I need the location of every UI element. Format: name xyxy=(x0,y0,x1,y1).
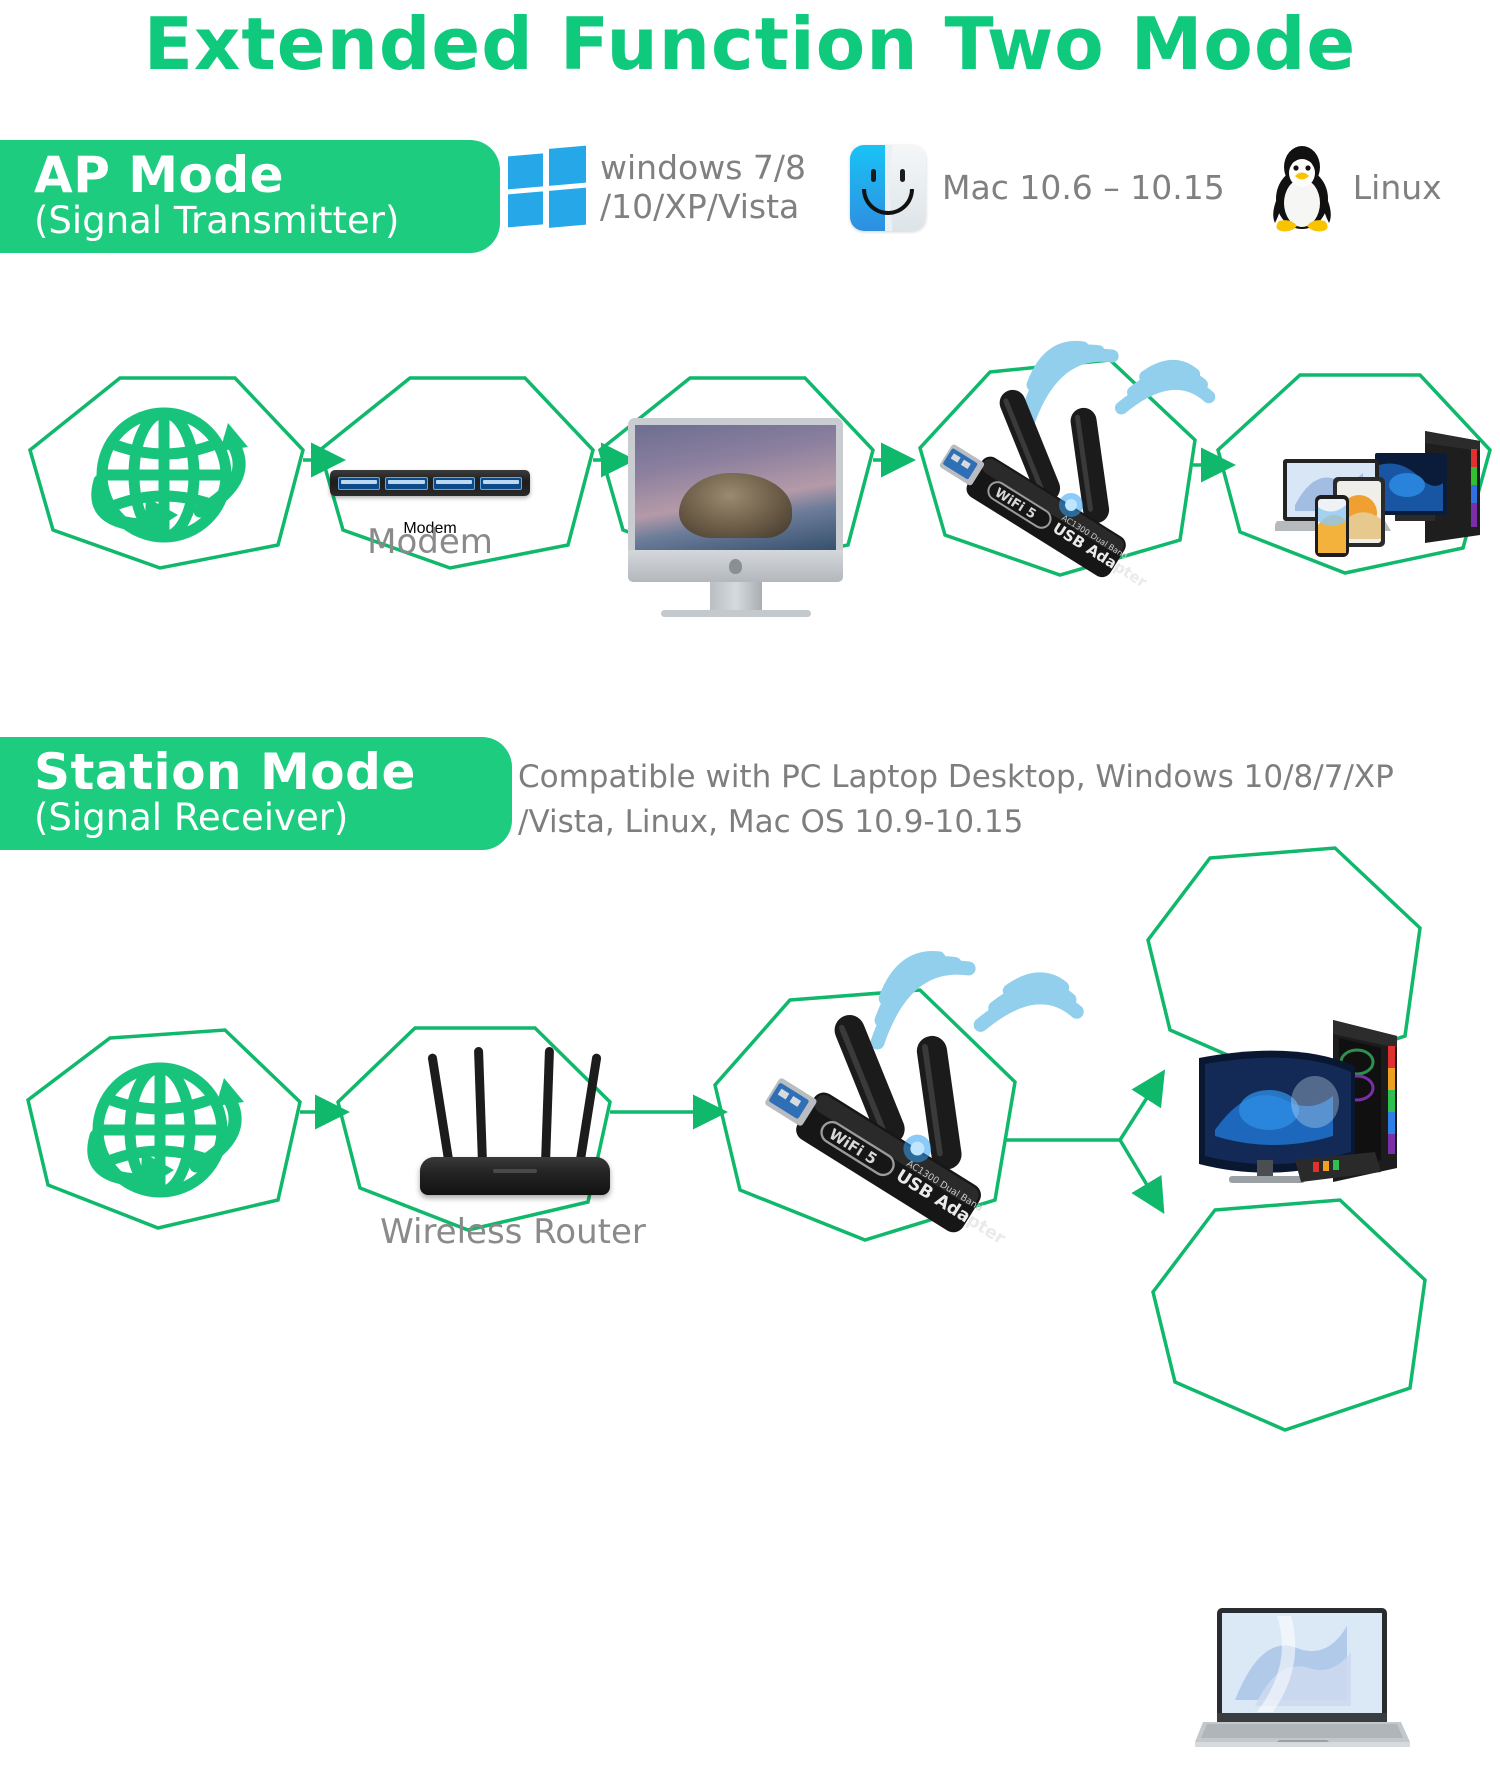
compatibility-line-2: /Vista, Linux, Mac OS 10.9-10.15 xyxy=(518,800,1448,845)
usb-wifi-adapter-icon: WiFi 5 AC1300 Dual Band USB Adapter xyxy=(925,365,1175,605)
os-compatibility-row: windows 7/8 /10/XP/Vista Mac 10.6 – 10.1… xyxy=(508,143,1442,233)
page-title: Extended Function Two Mode xyxy=(0,2,1500,86)
station-mode-badge-subtitle: (Signal Receiver) xyxy=(34,799,486,836)
hex-outline-s5 xyxy=(1153,1200,1425,1430)
os-item-mac: Mac 10.6 – 10.15 xyxy=(850,145,1225,231)
compatibility-text: Compatible with PC Laptop Desktop, Windo… xyxy=(518,755,1448,845)
ap-mode-badge: AP Mode (Signal Transmitter) xyxy=(0,140,500,253)
infographic-page: Extended Function Two Mode AP Mode (Sign… xyxy=(0,0,1500,1474)
multi-device-cluster-icon xyxy=(1275,425,1500,570)
windows-logo-icon xyxy=(508,146,586,231)
imac-desktop-icon xyxy=(628,418,843,598)
os-label-windows: windows 7/8 /10/XP/Vista xyxy=(600,149,806,227)
flow-arrow-s4 xyxy=(1120,1140,1150,1190)
laptop-icon xyxy=(1195,1600,1500,1765)
os-item-windows: windows 7/8 /10/XP/Vista xyxy=(508,149,806,227)
flow-arrow-s3 xyxy=(1120,1093,1150,1140)
node-label-modem: Modem xyxy=(320,522,540,562)
wireless-router-icon xyxy=(412,1055,617,1205)
station-mode-badge: Station Mode (Signal Receiver) xyxy=(0,737,512,850)
globe-internet-icon-2 xyxy=(74,1050,254,1227)
usb-wifi-adapter-icon-2: WiFi 5 AC1300 Dual Band USB Adapter xyxy=(748,985,1038,1265)
station-mode-badge-title: Station Mode xyxy=(34,747,486,797)
linux-tux-icon xyxy=(1265,143,1339,233)
ap-mode-badge-subtitle: (Signal Transmitter) xyxy=(34,202,474,239)
finder-mac-icon xyxy=(850,145,926,231)
node-label-wireless-router: Wireless Router xyxy=(378,1212,648,1252)
modem-icon xyxy=(330,470,530,496)
globe-internet-icon xyxy=(78,395,258,572)
os-item-linux: Linux xyxy=(1265,143,1442,233)
compatibility-line-1: Compatible with PC Laptop Desktop, Windo… xyxy=(518,755,1448,800)
os-label-mac: Mac 10.6 – 10.15 xyxy=(942,169,1225,208)
ap-mode-badge-title: AP Mode xyxy=(34,150,474,200)
os-label-linux: Linux xyxy=(1353,169,1442,208)
gaming-pc-monitor-icon xyxy=(1185,1010,1500,1215)
